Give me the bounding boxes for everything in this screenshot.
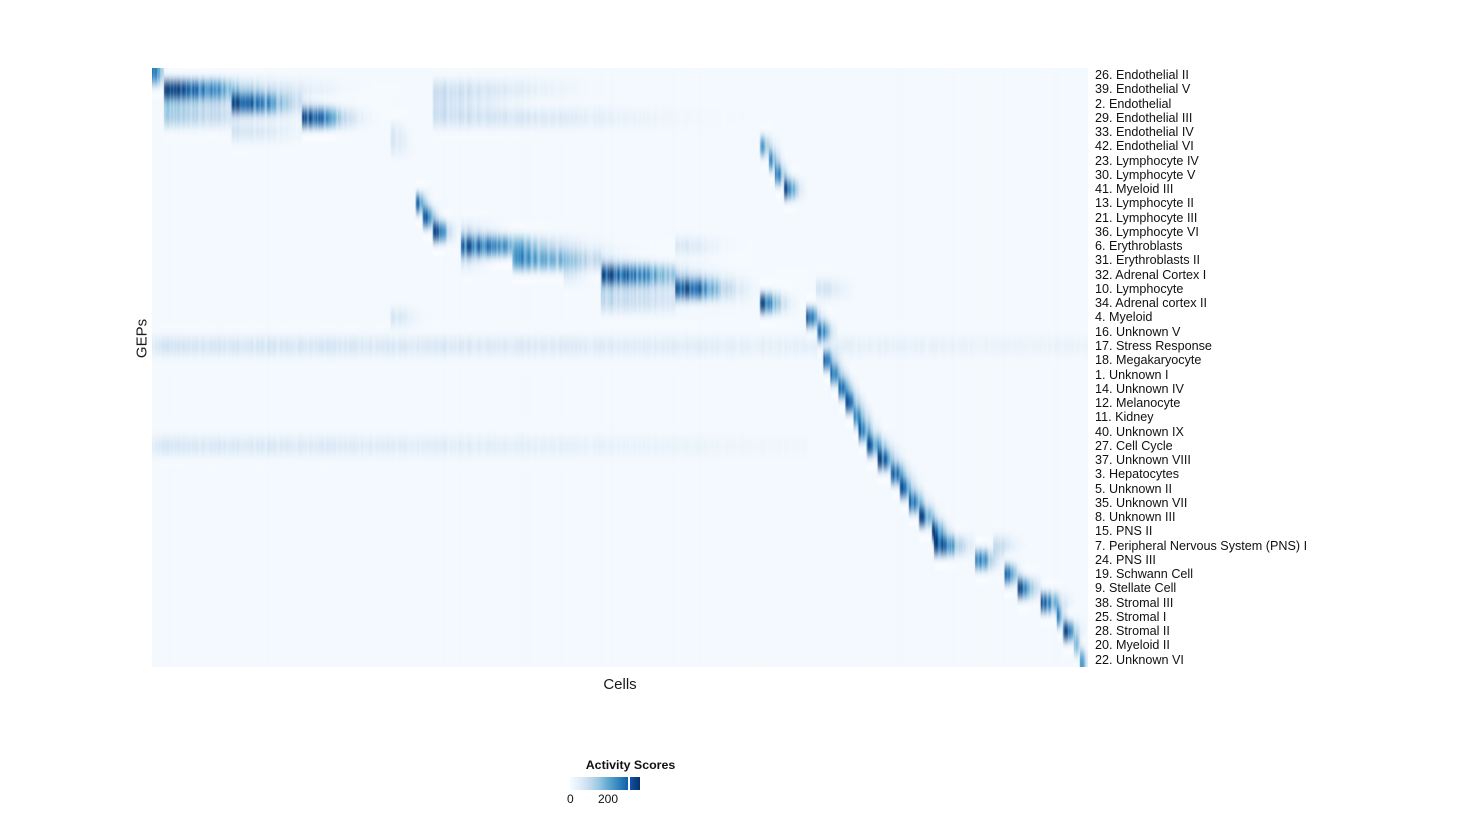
gep-row-label: 21. Lymphocyte III: [1095, 211, 1197, 225]
colorbar-legend: Activity Scores 0 200: [553, 758, 753, 810]
legend-title: Activity Scores: [553, 758, 708, 772]
gep-row-label: 7. Peripheral Nervous System (PNS) I: [1095, 539, 1307, 553]
colorbar-tick-label-max: 200: [598, 792, 618, 806]
gep-row-label: 4. Myeloid: [1095, 310, 1152, 324]
gep-row-label: 34. Adrenal cortex II: [1095, 296, 1207, 310]
gep-row-label: 16. Unknown V: [1095, 325, 1180, 339]
gep-row-label: 9. Stellate Cell: [1095, 581, 1176, 595]
gep-row-label: 24. PNS III: [1095, 553, 1156, 567]
gep-row-label: 15. PNS II: [1095, 524, 1152, 538]
gep-row-label: 22. Unknown VI: [1095, 653, 1184, 667]
heatmap-plot[interactable]: [152, 68, 1088, 667]
gep-row-label: 11. Kidney: [1095, 410, 1154, 424]
x-axis-label: Cells: [152, 676, 1088, 693]
gep-row-label: 8. Unknown III: [1095, 510, 1176, 524]
gep-row-label: 3. Hepatocytes: [1095, 467, 1179, 481]
colorbar-tick-label-min: 0: [567, 792, 574, 806]
gep-row-label: 29. Endothelial III: [1095, 111, 1192, 125]
gep-row-label: 5. Unknown II: [1095, 482, 1172, 496]
gep-row-label: 1. Unknown I: [1095, 368, 1169, 382]
gep-row-label: 13. Lymphocyte II: [1095, 196, 1194, 210]
gep-row-label: 37. Unknown VIII: [1095, 453, 1191, 467]
heatmap-figure: GEPs Cells 26. Endothelial II39. Endothe…: [0, 0, 1457, 815]
gep-row-label: 31. Erythroblasts II: [1095, 253, 1200, 267]
gep-row-label: 41. Myeloid III: [1095, 182, 1173, 196]
gep-row-label: 28. Stromal II: [1095, 624, 1170, 638]
gep-row-label: 6. Erythroblasts: [1095, 239, 1183, 253]
gep-row-label: 39. Endothelial V: [1095, 82, 1190, 96]
gep-row-label: 18. Megakaryocyte: [1095, 353, 1201, 367]
gep-row-label: 17. Stress Response: [1095, 339, 1212, 353]
gep-row-label: 32. Adrenal Cortex I: [1095, 268, 1206, 282]
gep-row-label: 10. Lymphocyte: [1095, 282, 1183, 296]
gep-row-label: 27. Cell Cycle: [1095, 439, 1173, 453]
gep-row-label: 40. Unknown IX: [1095, 425, 1184, 439]
gep-row-label: 14. Unknown IV: [1095, 382, 1184, 396]
gep-row-label: 2. Endothelial: [1095, 97, 1171, 111]
gep-row-label: 25. Stromal I: [1095, 610, 1166, 624]
gep-row-label: 12. Melanocyte: [1095, 396, 1180, 410]
gep-row-label: 26. Endothelial II: [1095, 68, 1189, 82]
y-axis-label: GEPs: [134, 319, 151, 359]
gep-row-label-list: 26. Endothelial II39. Endothelial V2. En…: [1095, 68, 1445, 667]
gep-row-label: 42. Endothelial VI: [1095, 139, 1194, 153]
gep-row-label: 23. Lymphocyte IV: [1095, 154, 1199, 168]
colorbar-tick-mark: [628, 777, 630, 790]
gep-row-label: 33. Endothelial IV: [1095, 125, 1194, 139]
gep-row-label: 19. Schwann Cell: [1095, 567, 1193, 581]
gep-row-label: 30. Lymphocyte V: [1095, 168, 1195, 182]
gep-row-label: 35. Unknown VII: [1095, 496, 1187, 510]
gep-row-label: 20. Myeloid II: [1095, 638, 1170, 652]
gep-row-label: 38. Stromal III: [1095, 596, 1173, 610]
heatmap-canvas[interactable]: [152, 68, 1088, 667]
gep-row-label: 36. Lymphocyte VI: [1095, 225, 1199, 239]
